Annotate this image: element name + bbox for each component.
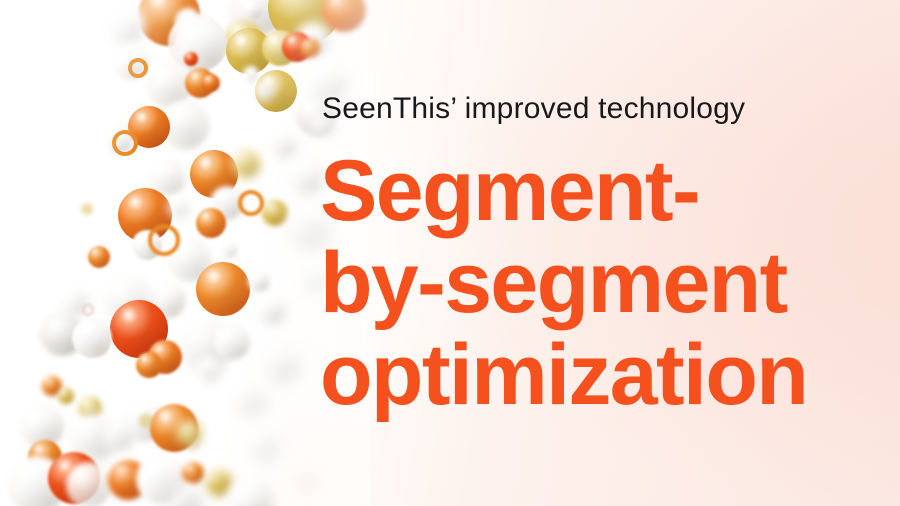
slide-eyebrow-text: SeenThis’ improved technology	[322, 92, 880, 127]
decorative-sphere	[243, 66, 259, 82]
decorative-sphere	[262, 200, 288, 226]
decorative-ring	[140, 415, 152, 427]
decorative-sphere	[228, 478, 274, 506]
decorative-sphere	[300, 38, 320, 58]
decorative-sphere	[296, 470, 316, 490]
decorative-ring	[82, 304, 94, 316]
decorative-sphere	[58, 388, 74, 404]
decorative-sphere	[236, 386, 264, 414]
decorative-sphere	[72, 318, 112, 358]
decorative-sphere	[248, 430, 278, 460]
decorative-ring	[112, 130, 138, 156]
bubble-cluster-decoration	[0, 0, 370, 506]
decorative-sphere	[296, 22, 330, 56]
decorative-sphere	[40, 312, 84, 356]
decorative-sphere	[20, 404, 64, 448]
decorative-sphere	[136, 352, 162, 378]
decorative-ring	[238, 190, 264, 216]
decorative-sphere	[228, 0, 286, 36]
decorative-sphere	[48, 452, 100, 504]
decorative-sphere	[226, 28, 272, 74]
decorative-sphere	[196, 262, 250, 316]
decorative-sphere	[224, 20, 262, 58]
decorative-sphere	[196, 356, 222, 382]
decorative-sphere	[120, 108, 152, 140]
decorative-sphere	[108, 460, 148, 500]
decorative-sphere	[148, 340, 182, 374]
decorative-sphere	[282, 32, 312, 62]
decorative-sphere	[290, 160, 324, 194]
decorative-sphere	[150, 404, 198, 452]
decorative-sphere	[136, 454, 186, 504]
decorative-sphere	[268, 128, 298, 158]
decorative-sphere	[28, 440, 62, 474]
decorative-sphere	[253, 80, 275, 102]
decorative-sphere	[150, 282, 186, 318]
headline-line-2: by-segment	[320, 237, 880, 329]
decorative-sphere	[60, 286, 90, 316]
decorative-sphere	[255, 70, 297, 112]
decorative-sphere	[176, 420, 202, 446]
decorative-sphere	[122, 398, 166, 442]
headline-line-3: optimization	[320, 329, 880, 421]
decorative-sphere	[182, 462, 204, 484]
decorative-sphere	[8, 456, 66, 506]
decorative-sphere	[214, 324, 250, 360]
decorative-sphere	[150, 160, 186, 196]
decorative-sphere	[106, 128, 132, 154]
decorative-sphere	[138, 0, 200, 46]
decorative-sphere	[168, 14, 226, 72]
decorative-ring	[148, 224, 180, 256]
decorative-sphere	[180, 320, 232, 372]
decorative-sphere	[184, 52, 198, 66]
decorative-sphere	[132, 230, 162, 260]
decorative-sphere	[88, 246, 110, 268]
presentation-slide: SeenThis’ improved technology Segment- b…	[0, 0, 900, 506]
decorative-sphere	[160, 100, 210, 150]
decorative-sphere	[322, 0, 366, 32]
decorative-sphere	[202, 74, 220, 92]
decorative-sphere	[168, 238, 212, 282]
decorative-sphere	[264, 346, 300, 382]
slide-headline: Segment- by-segment optimization	[320, 145, 880, 421]
decorative-sphere	[113, 44, 149, 80]
decorative-sphere	[128, 106, 170, 148]
decorative-ring	[82, 204, 92, 214]
decorative-sphere	[268, 0, 342, 44]
decorative-sphere	[243, 0, 263, 20]
decorative-sphere	[110, 300, 168, 358]
decorative-sphere	[185, 68, 215, 98]
decorative-sphere	[175, 8, 201, 34]
decorative-sphere	[78, 396, 102, 420]
decorative-sphere	[106, 4, 146, 44]
decorative-sphere	[66, 462, 112, 506]
decorative-sphere	[220, 240, 238, 258]
decorative-sphere	[175, 18, 227, 70]
decorative-sphere	[196, 208, 226, 238]
decorative-sphere	[258, 296, 286, 324]
decorative-sphere	[118, 188, 172, 242]
decorative-ring	[96, 345, 106, 355]
decorative-sphere	[262, 30, 298, 66]
decorative-sphere	[232, 150, 260, 178]
slide-text-block: SeenThis’ improved technology Segment- b…	[320, 92, 880, 421]
decorative-sphere	[248, 270, 270, 292]
decorative-sphere	[190, 150, 238, 198]
decorative-sphere	[42, 376, 62, 396]
headline-line-1: Segment-	[320, 145, 880, 237]
decorative-sphere	[206, 470, 232, 496]
decorative-ring	[128, 58, 148, 78]
decorative-sphere	[168, 196, 190, 218]
decorative-sphere	[168, 486, 202, 506]
decorative-ring	[188, 440, 198, 450]
decorative-sphere	[210, 186, 244, 220]
decorative-sphere	[68, 412, 118, 462]
decorative-sphere	[146, 62, 192, 108]
decorative-sphere	[104, 420, 134, 450]
decorative-sphere	[104, 276, 152, 324]
